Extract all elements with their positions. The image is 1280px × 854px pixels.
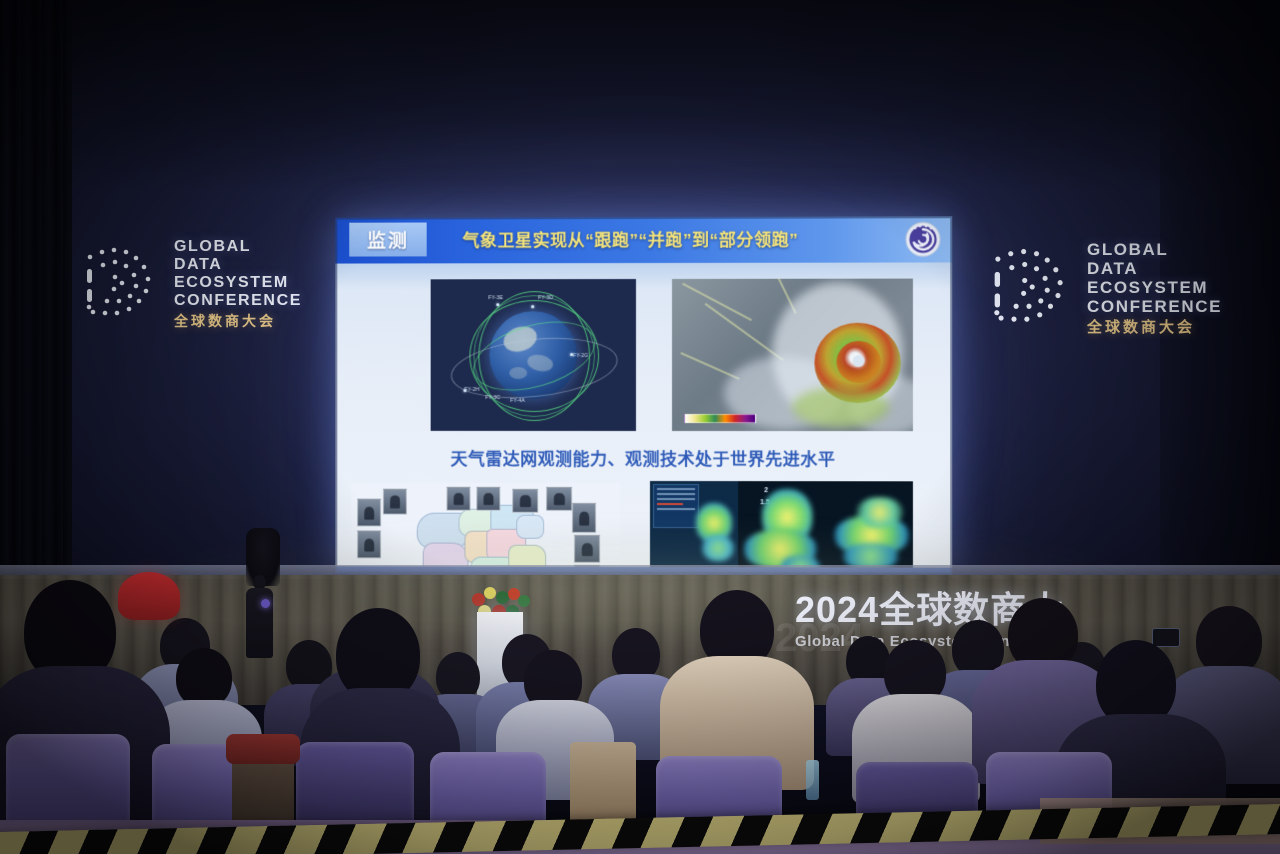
- logo-line-ecosystem: ECOSYSTEM: [174, 274, 302, 292]
- presenter-badge: [261, 599, 270, 608]
- typhoon-satellite-image: [672, 279, 913, 432]
- handbag: [232, 756, 294, 828]
- conference-logo-right: GLOBAL DATA ECOSYSTEM CONFERENCE 全球数商大会: [985, 240, 1222, 337]
- logo-line-global: GLOBAL: [174, 238, 302, 256]
- conference-logo-right-text: GLOBAL DATA ECOSYSTEM CONFERENCE 全球数商大会: [1087, 240, 1222, 337]
- satellite-label: FY-3D: [538, 295, 553, 301]
- satellite-label: FY-2H: [464, 387, 479, 393]
- red-hat: [118, 572, 180, 620]
- ceiling-shadow: [0, 0, 1280, 190]
- conference-logo-left: GLOBAL DATA ECOSYSTEM CONFERENCE 全球数商大会: [78, 238, 302, 329]
- satellite-constellation-diagram: FY-3E FY-3D FY-2G FY-4A FY-3C FY-2H: [431, 279, 636, 431]
- tote-bag: [570, 742, 636, 828]
- logo-line-ecosystem: ECOSYSTEM: [1087, 278, 1222, 297]
- satellite-label: FY-3E: [488, 295, 503, 301]
- left-curtain-panel: [0, 0, 72, 600]
- water-bottle: [806, 760, 819, 800]
- slide-title: 气象卫星实现从“跟跑”“并跑”到“部分领跑”: [462, 225, 881, 251]
- slide-middle-text: 天气雷达网观测能力、观测技术处于世界先进水平: [335, 445, 952, 471]
- conference-logo-left-text: GLOBAL DATA ECOSYSTEM CONFERENCE 全球数商大会: [174, 238, 302, 329]
- typhoon-color-scale-bar: [684, 414, 756, 423]
- presenter-body: [246, 588, 273, 658]
- logo-line-global: GLOBAL: [1087, 240, 1222, 259]
- logo-line-data: DATA: [1087, 259, 1222, 278]
- cma-typhoon-emblem-icon: [904, 220, 942, 258]
- conference-hall-photo: GLOBAL DATA ECOSYSTEM CONFERENCE 全球数商大会: [0, 0, 1280, 854]
- slide-header: 监测 气象卫星实现从“跟跑”“并跑”到“部分领跑”: [335, 216, 952, 263]
- slide-section-tab-label: 监测: [367, 226, 409, 253]
- satellite-label: FY-2G: [573, 353, 588, 359]
- radar-value-label: 2: [764, 487, 768, 494]
- presenter-on-stage: [242, 575, 276, 657]
- logo-line-conference: CONFERENCE: [174, 292, 302, 310]
- typhoon-eye-icon: [853, 355, 865, 367]
- smartphone: [1152, 628, 1180, 647]
- logo-chinese-name: 全球数商大会: [174, 314, 302, 330]
- logo-line-data: DATA: [174, 256, 302, 274]
- slide-section-tab: 监测: [349, 223, 426, 257]
- dotted-d-logo-icon: [985, 244, 1073, 332]
- satellite-label: FY-3C: [485, 395, 500, 401]
- logo-chinese-name: 全球数商大会: [1087, 320, 1222, 337]
- logo-line-conference: CONFERENCE: [1087, 297, 1222, 316]
- satellite-label: FY-4A: [510, 398, 525, 404]
- dotted-d-logo-icon: [78, 243, 160, 325]
